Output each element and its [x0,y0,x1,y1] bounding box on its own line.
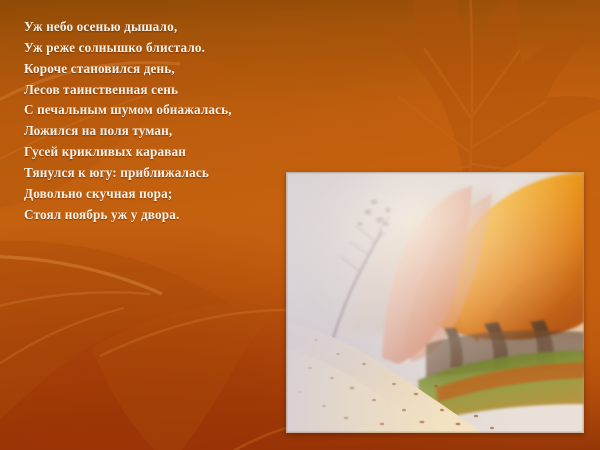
poem-line: Ложился на поля туман, [24,121,286,142]
poem-line: Довольно скучная пора; [24,184,286,205]
presentation-slide: Уж небо осенью дышало, Уж реже солнышко … [0,0,600,450]
poem-line: Уж реже солнышко блистало. [24,38,286,59]
poem-text-block: Уж небо осенью дышало, Уж реже солнышко … [24,17,286,225]
autumn-forest-photo [286,172,584,433]
poem-line: Лесов таинственная сень [24,80,286,101]
poem-line: С печальным шумом обнажалась, [24,100,286,121]
poem-line: Уж небо осенью дышало, [24,17,286,38]
poem-line: Стоял ноябрь уж у двора. [24,205,286,226]
poem-line: Короче становился день, [24,59,286,80]
autumn-forest-photo-image [286,172,584,433]
poem-line: Гусей крикливых караван [24,142,286,163]
maple-leaf-watermark [258,0,600,201]
poem-line: Тянулся к югу: приближалась [24,163,286,184]
lower-leaf-watermark [0,232,278,450]
